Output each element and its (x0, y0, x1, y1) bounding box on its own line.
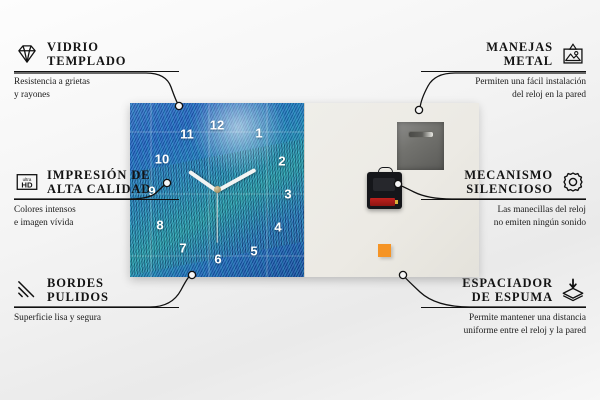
callout-rule (14, 71, 179, 72)
callout-rule (421, 307, 586, 308)
clock-numeral-6: 6 (214, 253, 221, 266)
clock-numeral-4: 4 (274, 221, 281, 234)
mechanism-loop (378, 167, 393, 175)
framed-picture-icon (560, 41, 586, 67)
callout-title: ESPACIADOR DE ESPUMA (462, 276, 553, 304)
callout-rule (14, 307, 179, 308)
callout-foam-spacer: ESPACIADOR DE ESPUMA Permite mantener un… (421, 276, 586, 337)
callout-silent-mechanism: MECANISMO SILENCIOSO Las manecillas del … (421, 168, 586, 229)
metal-hanger-plate (397, 122, 444, 170)
clock-center-pin (214, 186, 221, 193)
callout-description: Resistencia a grietasy rayones (14, 76, 179, 101)
callout-title: MECANISMO SILENCIOSO (464, 168, 553, 196)
clock-numeral-1: 1 (255, 127, 262, 140)
clock-numeral-12: 12 (210, 119, 224, 132)
callout-title: IMPRESIÓN DE ALTA CALIDAD (47, 168, 151, 196)
infographic-canvas: 12 1 2 3 4 5 6 7 8 9 10 11 (0, 0, 600, 400)
clock-numeral-10: 10 (155, 153, 169, 166)
clock-numeral-8: 8 (156, 219, 163, 232)
callout-description: Las manecillas del relojno emiten ningún… (421, 204, 586, 229)
foam-spacer (378, 244, 391, 257)
gear-icon (560, 169, 586, 195)
callout-rule (421, 199, 586, 200)
arrow-onto-layers-icon (560, 277, 586, 303)
callout-title: BORDES PULIDOS (47, 276, 109, 304)
clock-numeral-5: 5 (250, 245, 257, 258)
callout-metal-hooks: MANEJAS METAL Permiten una fácil instala… (421, 40, 586, 101)
diagonal-stripes-icon (14, 277, 40, 303)
callout-tempered-glass: VIDRIO TEMPLADO Resistencia a grietasy r… (14, 40, 179, 101)
ultra-hd-icon: ultra HD (14, 169, 40, 195)
clock-minute-hand (216, 168, 256, 193)
mechanism-battery (370, 198, 395, 206)
clock-numeral-7: 7 (179, 242, 186, 255)
hanger-slot (408, 131, 434, 138)
callout-polished-edges: BORDES PULIDOS Superficie lisa y segura (14, 276, 179, 325)
clock-numeral-9: 9 (148, 185, 155, 198)
clock-second-hand (216, 191, 217, 243)
callout-rule (421, 71, 586, 72)
mechanism-dial (373, 178, 395, 191)
clock-numeral-2: 2 (278, 155, 285, 168)
svg-text:HD: HD (21, 181, 33, 190)
callout-description: Colores intensose imagen vívida (14, 204, 179, 229)
callout-hd-print: ultra HD IMPRESIÓN DE ALTA CALIDAD Color… (14, 168, 179, 229)
callout-description: Permite mantener una distanciauniforme e… (421, 312, 586, 337)
clock-numeral-11: 11 (180, 128, 194, 141)
callout-rule (14, 199, 179, 200)
callout-title: MANEJAS METAL (486, 40, 553, 68)
clock-numeral-3: 3 (284, 188, 291, 201)
callout-description: Permiten una fácil instalacióndel reloj … (421, 76, 586, 101)
callout-description: Superficie lisa y segura (14, 312, 179, 325)
clock-mechanism (367, 172, 402, 209)
diamond-icon (14, 41, 40, 67)
callout-title: VIDRIO TEMPLADO (47, 40, 126, 68)
